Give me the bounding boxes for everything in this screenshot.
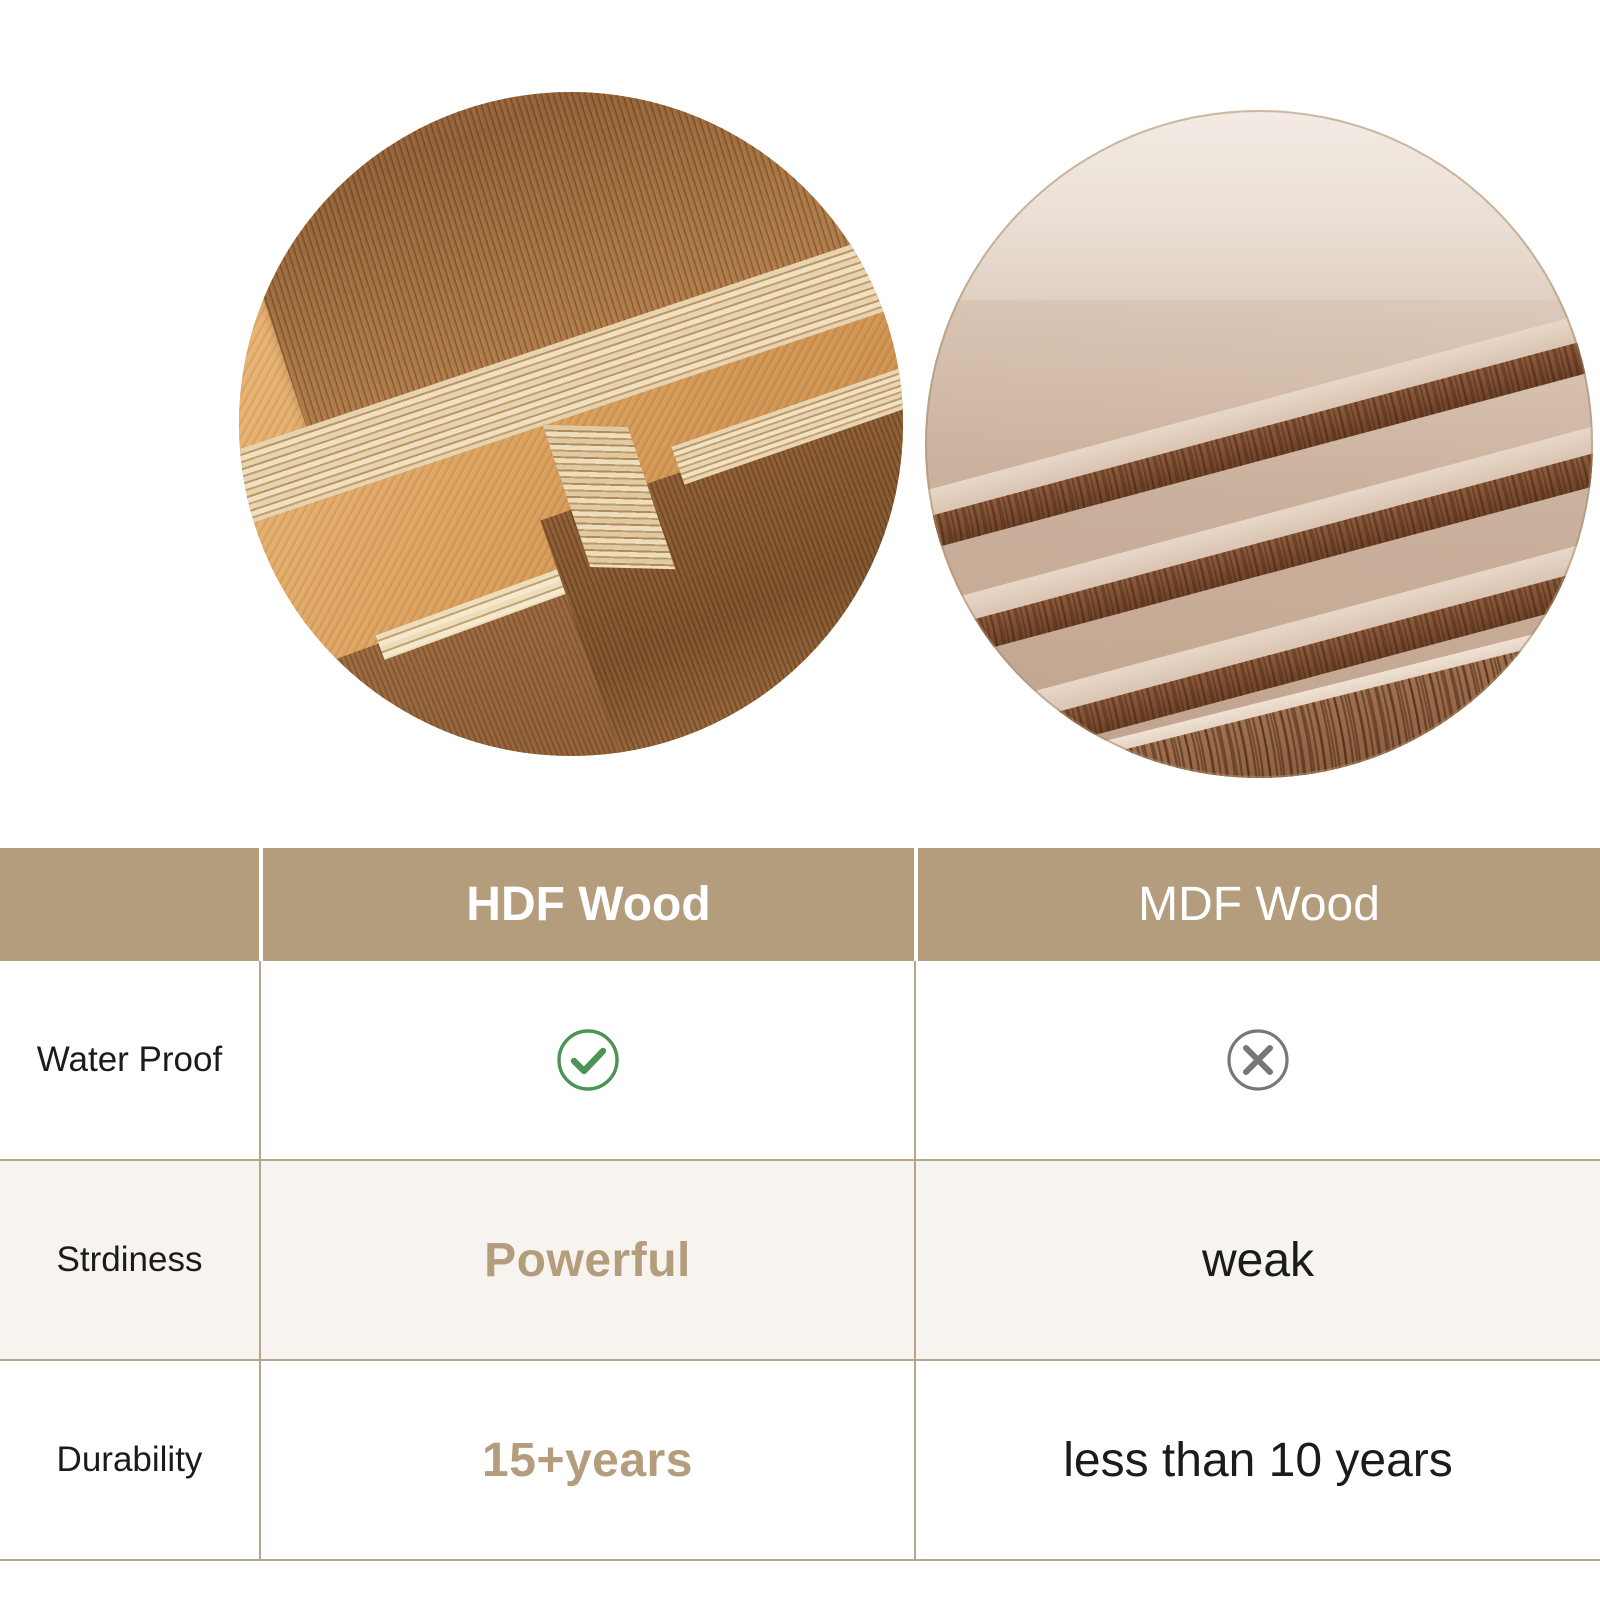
product-photo-area [0,0,1600,848]
check-circle-icon [555,1027,621,1093]
value-hdf-strdiness: Powerful [484,1233,691,1288]
cell-hdf-strdiness: Powerful [259,1161,914,1359]
header-label-hdf: HDF Wood [466,881,710,929]
cell-hdf-durability: 15+years [259,1361,914,1559]
table-header-row: HDF Wood MDF Wood [0,848,1600,961]
mdf-fiberboard-photo [925,110,1593,778]
comparison-table: HDF Wood MDF Wood Water Proof [0,848,1600,1561]
cell-hdf-water-proof [259,961,914,1159]
header-cell-hdf: HDF Wood [259,848,914,961]
row-label-water-proof: Water Proof [37,1040,222,1080]
value-mdf-strdiness: weak [1202,1233,1314,1288]
comparison-infographic: HDF Wood MDF Wood Water Proof [0,0,1600,1600]
row-label-cell: Durability [0,1361,259,1559]
value-mdf-durability: less than 10 years [1063,1433,1453,1488]
table-row: Durability 15+years less than 10 years [0,1361,1600,1561]
row-label-strdiness: Strdiness [57,1240,203,1280]
cross-circle-icon [1225,1027,1291,1093]
header-label-mdf: MDF Wood [1138,881,1380,929]
table-row: Water Proof [0,961,1600,1161]
value-hdf-durability: 15+years [482,1433,693,1488]
cell-mdf-water-proof [914,961,1600,1159]
row-label-durability: Durability [57,1440,203,1480]
header-cell-mdf: MDF Wood [914,848,1600,961]
header-cell-feature [0,848,259,961]
row-label-cell: Water Proof [0,961,259,1159]
mdf-photo-ring [925,110,1593,778]
hdf-plywood-photo [239,92,903,756]
row-label-cell: Strdiness [0,1161,259,1359]
table-row: Strdiness Powerful weak [0,1161,1600,1361]
cell-mdf-durability: less than 10 years [914,1361,1600,1559]
cell-mdf-strdiness: weak [914,1161,1600,1359]
